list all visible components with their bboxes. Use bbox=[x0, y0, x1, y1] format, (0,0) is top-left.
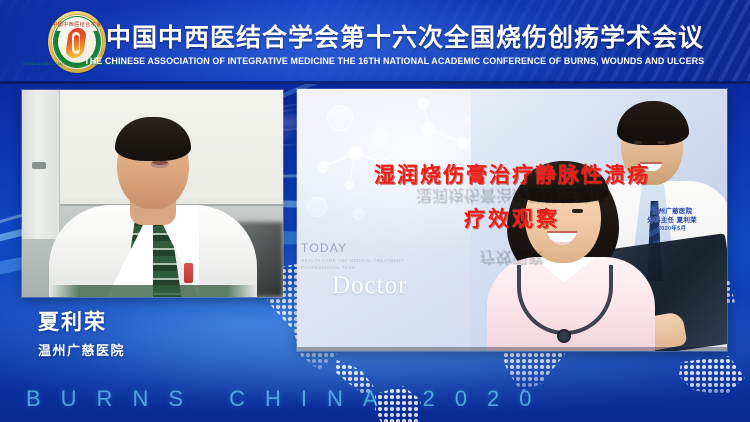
slide-bottom-edge bbox=[297, 347, 727, 351]
conference-title-chinese: 中国中西医结合学会第十六次全国烧伤创疡学术会议 bbox=[0, 18, 750, 54]
presentation-slide[interactable]: 温州广慈医院 外科主任 夏利荣 2020年5月 TODAY HEALTH CAR… bbox=[297, 89, 727, 351]
video-room-door bbox=[22, 90, 60, 239]
door-lock-icon bbox=[32, 162, 46, 169]
caption-date: 2020年5月 bbox=[647, 226, 697, 234]
slide-doctors-photo: 温州广慈医院 外科主任 夏利荣 2020年5月 bbox=[471, 89, 727, 351]
stethoscope-bell-icon bbox=[557, 329, 571, 343]
speaker-organization-label: 温州广慈医院 bbox=[38, 340, 125, 359]
speaker-name-label: 夏利荣 bbox=[38, 306, 107, 336]
speaker-video-feed[interactable] bbox=[22, 90, 283, 297]
conference-header-banner: 中国中西医结合学会 CHINESE ASSOCIATION OF INTEGRA… bbox=[0, 0, 750, 84]
caption-role: 外科主任 夏利荣 bbox=[647, 216, 697, 225]
slide-watermark-doctor: Doctor bbox=[332, 272, 407, 300]
speaker-coat-badge bbox=[184, 263, 193, 283]
conference-title-english: THE CHINESE ASSOCIATION OF INTEGRATIVE M… bbox=[15, 56, 735, 66]
slide-watermark-today: TODAY bbox=[301, 241, 347, 255]
caption-hospital: 温州广慈医院 bbox=[647, 207, 697, 216]
slide-watermark-today-subtext: HEALTH CARE AND MEDICAL TREATMENT PROFES… bbox=[301, 257, 411, 272]
speaker-shirt-hem bbox=[50, 285, 256, 297]
slide-photo-caption: 温州广慈医院 外科主任 夏利荣 2020年5月 bbox=[647, 207, 697, 234]
event-wordmark: BURNS CHINA 2020 bbox=[26, 386, 551, 412]
conference-broadcast-screen: 中国中西医结合学会 CHINESE ASSOCIATION OF INTEGRA… bbox=[0, 0, 750, 422]
